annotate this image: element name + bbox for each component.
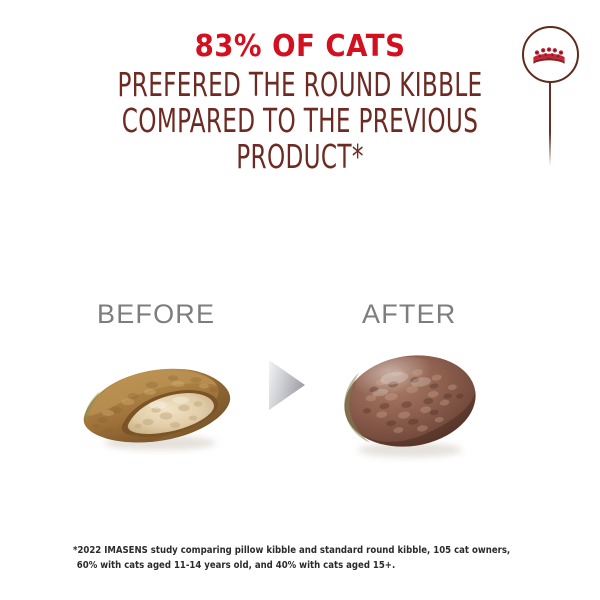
kibble-comparison-row: [0, 340, 600, 480]
pillow-kibble-photo: [78, 360, 238, 455]
headline-line-4: PRODUCT*: [66, 139, 534, 175]
before-label: BEFORE: [97, 298, 215, 330]
headline-line-3: COMPARED TO THE PREVIOUS: [66, 103, 534, 139]
headline-block: 83% OF CATS PREFERED THE ROUND KIBBLE CO…: [0, 30, 600, 175]
right-triangle-arrow-icon: [267, 359, 307, 411]
headline-statistic: 83% OF CATS: [24, 30, 576, 64]
headline-line-2: PREFERED THE ROUND KIBBLE: [66, 67, 534, 103]
headline-body: PREFERED THE ROUND KIBBLE COMPARED TO TH…: [0, 67, 600, 175]
after-label: AFTER: [362, 298, 457, 330]
before-after-labels: BEFORE AFTER: [0, 298, 600, 332]
footnote-line-1: *2022 IMASENS study comparing pillow kib…: [73, 543, 520, 558]
footnote: *2022 IMASENS study comparing pillow kib…: [73, 543, 543, 573]
footnote-line-2: 60% with cats aged 11-14 years old, and …: [73, 558, 520, 573]
promo-banner: 83% OF CATS PREFERED THE ROUND KIBBLE CO…: [0, 0, 600, 600]
round-kibble-photo: [336, 346, 486, 464]
